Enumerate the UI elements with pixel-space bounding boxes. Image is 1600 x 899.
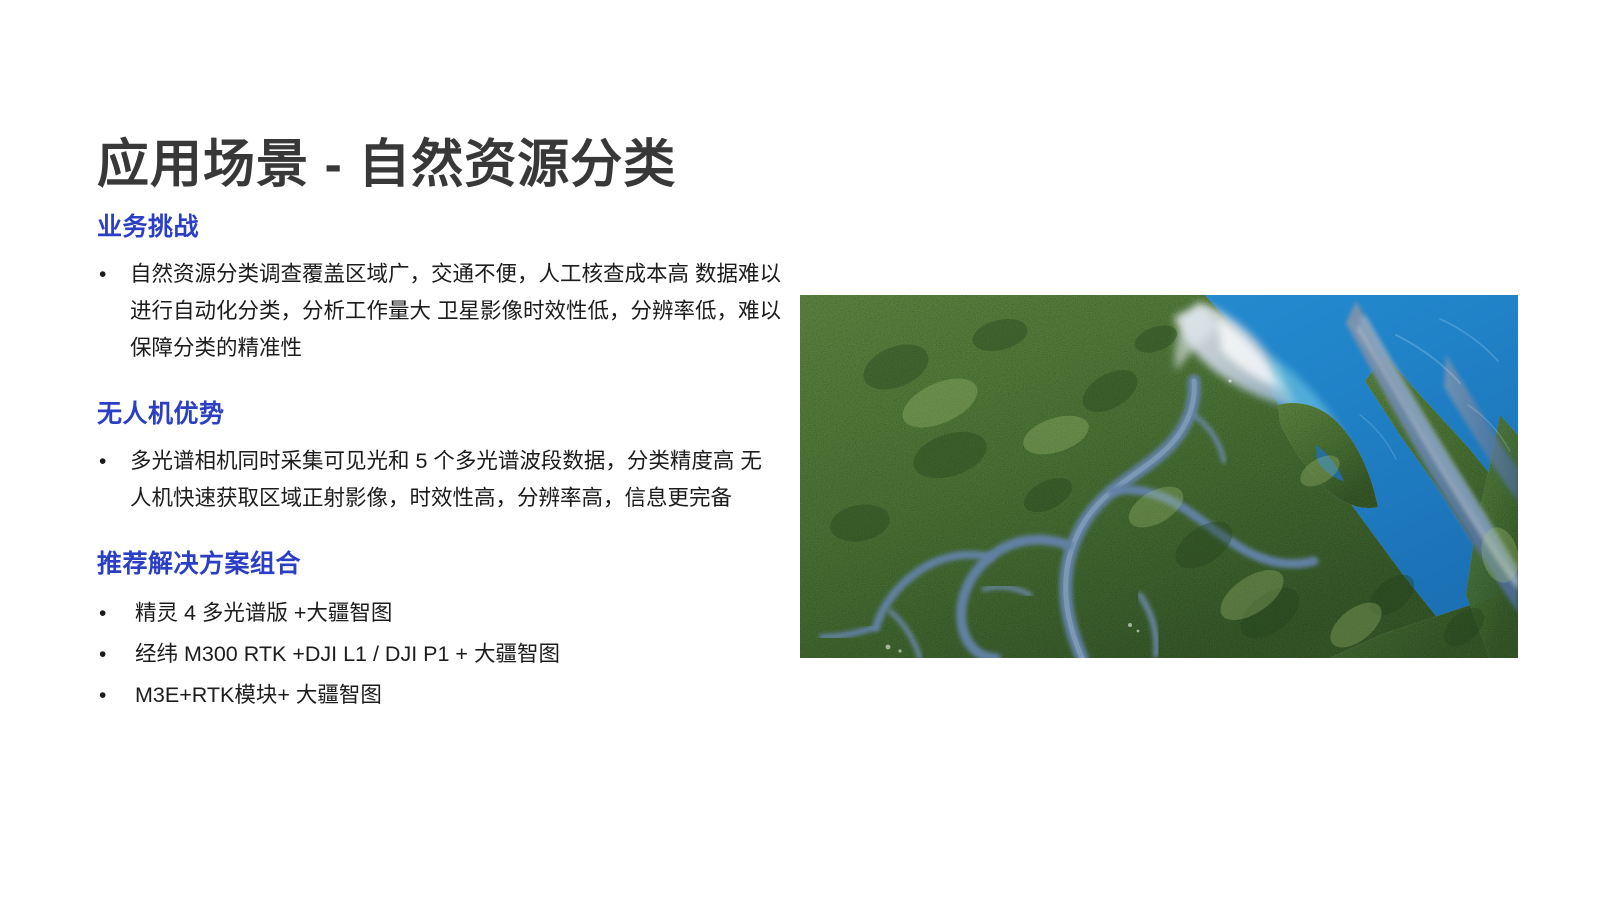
aerial-photo-illustration <box>800 295 1518 658</box>
section-business-challenge: 业务挑战 • 自然资源分类调查覆盖区域广，交通不便，人工核查成本高 数据难以进行… <box>97 210 777 367</box>
bullet-dot-icon: • <box>99 443 106 480</box>
page-title: 应用场景 - 自然资源分类 <box>97 134 676 196</box>
section-heading-drone-advantage: 无人机优势 <box>97 397 777 431</box>
section-recommended-solutions: 推荐解决方案组合 • 精灵 4 多光谱版 +大疆智图 • 经纬 M300 RTK… <box>97 547 777 716</box>
aerial-photo <box>800 295 1518 658</box>
list-item-text: 精灵 4 多光谱版 +大疆智图 <box>135 601 392 625</box>
list-item-text: 经纬 M300 RTK +DJI L1 / DJI P1 + 大疆智图 <box>135 642 560 666</box>
challenge-bullet-list: • 自然资源分类调查覆盖区域广，交通不便，人工核查成本高 数据难以进行自动化分类… <box>97 256 777 367</box>
section-heading-business-challenge: 业务挑战 <box>97 210 777 244</box>
list-item: • 经纬 M300 RTK +DJI L1 / DJI P1 + 大疆智图 <box>97 634 777 675</box>
list-item: • 精灵 4 多光谱版 +大疆智图 <box>97 593 777 634</box>
bullet-dot-icon: • <box>99 256 106 293</box>
section-drone-advantage: 无人机优势 • 多光谱相机同时采集可见光和 5 个多光谱波段数据，分类精度高 无… <box>97 397 777 517</box>
list-item: • M3E+RTK模块+ 大疆智图 <box>97 675 777 716</box>
content-column: 业务挑战 • 自然资源分类调查覆盖区域广，交通不便，人工核查成本高 数据难以进行… <box>97 210 777 716</box>
list-item-text: M3E+RTK模块+ 大疆智图 <box>135 683 382 707</box>
list-item-text: 多光谱相机同时采集可见光和 5 个多光谱波段数据，分类精度高 无人机快速获取区域… <box>130 449 762 510</box>
list-item-text: 自然资源分类调查覆盖区域广，交通不便，人工核查成本高 数据难以进行自动化分类，分… <box>130 262 781 360</box>
bullet-dot-icon: • <box>99 675 106 716</box>
advantage-bullet-list: • 多光谱相机同时采集可见光和 5 个多光谱波段数据，分类精度高 无人机快速获取… <box>97 443 777 517</box>
bullet-dot-icon: • <box>99 593 106 634</box>
slide-root: 应用场景 - 自然资源分类 业务挑战 • 自然资源分类调查覆盖区域广，交通不便，… <box>0 0 1600 899</box>
bullet-dot-icon: • <box>99 634 106 675</box>
solution-bullet-list: • 精灵 4 多光谱版 +大疆智图 • 经纬 M300 RTK +DJI L1 … <box>97 593 777 716</box>
section-heading-recommended-solutions: 推荐解决方案组合 <box>97 547 777 581</box>
list-item: • 多光谱相机同时采集可见光和 5 个多光谱波段数据，分类精度高 无人机快速获取… <box>97 443 780 517</box>
list-item: • 自然资源分类调查覆盖区域广，交通不便，人工核查成本高 数据难以进行自动化分类… <box>97 256 785 367</box>
